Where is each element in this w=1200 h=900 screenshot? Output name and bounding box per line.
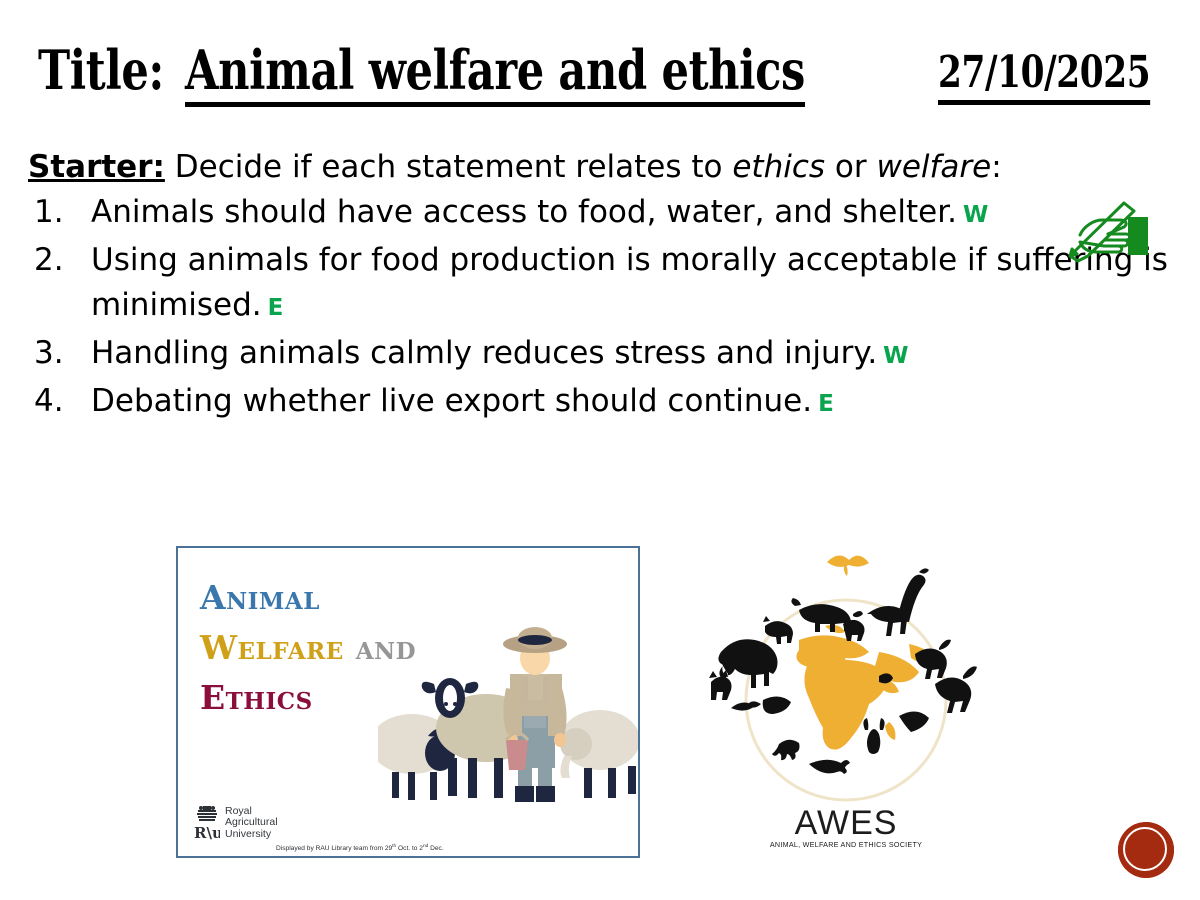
awes-tagline: ANIMAL, WELFARE AND ETHICS SOCIETY <box>703 840 989 849</box>
caption-part-1: Displayed by RAU Library team from 29 <box>276 845 392 852</box>
statement-text: Using animals for food production is mor… <box>91 242 1168 323</box>
rau-line-2: Agricultural <box>225 816 278 828</box>
rau-line-3: University <box>225 828 271 840</box>
caption-part-2: Oct. to 2 <box>396 845 423 852</box>
cover-word-welfare: Welfare <box>200 628 344 667</box>
cover-word-animal: Animal <box>200 578 320 617</box>
cover-title-line-1: Animal <box>200 578 320 617</box>
slide-date: 27/10/2025 <box>938 48 1150 105</box>
awes-logo: AWES ANIMAL, WELFARE AND ETHICS SOCIETY <box>703 548 989 864</box>
statement-text: Debating whether live export should cont… <box>91 383 812 419</box>
farmer-figure <box>503 627 567 802</box>
list-item: Animals should have access to food, wate… <box>28 190 1178 238</box>
starter-text-after: : <box>991 149 1001 185</box>
cover-word-ethics: Ethics <box>200 678 313 717</box>
list-item: Using animals for food production is mor… <box>28 238 1178 331</box>
awes-name: AWES <box>703 804 989 843</box>
rau-line-1: Royal <box>225 805 252 817</box>
rau-logo: R\u0041 Royal Agricultural University <box>194 806 278 841</box>
rau-crest-icon: R\u0041 <box>194 806 220 840</box>
cover-title-line-3: Ethics <box>200 678 313 717</box>
rau-logo-text: Royal Agricultural University <box>225 806 278 841</box>
pencil-hand-icon <box>1058 193 1154 265</box>
keyword-welfare: welfare <box>876 149 991 185</box>
bird-icon <box>827 555 869 576</box>
slide-body: Starter: Decide if each statement relate… <box>28 145 1178 427</box>
statement-answer-tag: W <box>957 202 988 228</box>
starter-text-before: Decide if each statement relates to <box>165 149 732 185</box>
statement-text: Animals should have access to food, wate… <box>91 194 957 230</box>
statement-answer-tag: E <box>812 391 834 417</box>
list-item: Debating whether live export should cont… <box>28 379 1178 427</box>
sheep-right <box>560 710 640 798</box>
starter-instruction: Starter: Decide if each statement relate… <box>28 145 1068 190</box>
cover-caption: Displayed by RAU Library team from 29th … <box>276 844 444 852</box>
keyword-ethics: ethics <box>732 149 825 185</box>
statement-text: Handling animals calmly reduces stress a… <box>91 335 877 371</box>
page-title: Animal welfare and ethics <box>185 40 805 107</box>
statement-answer-tag: W <box>877 343 908 369</box>
book-cover-image: Animal Welfare and Ethics <box>176 546 640 858</box>
slide-title-row: Title: Animal welfare and ethics 27/10/2… <box>0 18 1200 98</box>
statement-list: Animals should have access to food, wate… <box>28 190 1178 427</box>
statement-answer-tag: E <box>262 295 284 321</box>
title-prefix: Title: <box>38 40 164 100</box>
list-item: Handling animals calmly reduces stress a… <box>28 331 1178 379</box>
svg-text:R\u0041: R\u0041 <box>194 824 220 840</box>
starter-label: Starter: <box>28 149 165 185</box>
starter-text-middle: or <box>825 149 876 185</box>
awes-globe-icon <box>703 548 989 810</box>
caption-part-3: Dec. <box>428 845 443 852</box>
farmer-and-sheep-illustration <box>378 616 640 816</box>
corner-badge[interactable] <box>1118 822 1174 878</box>
